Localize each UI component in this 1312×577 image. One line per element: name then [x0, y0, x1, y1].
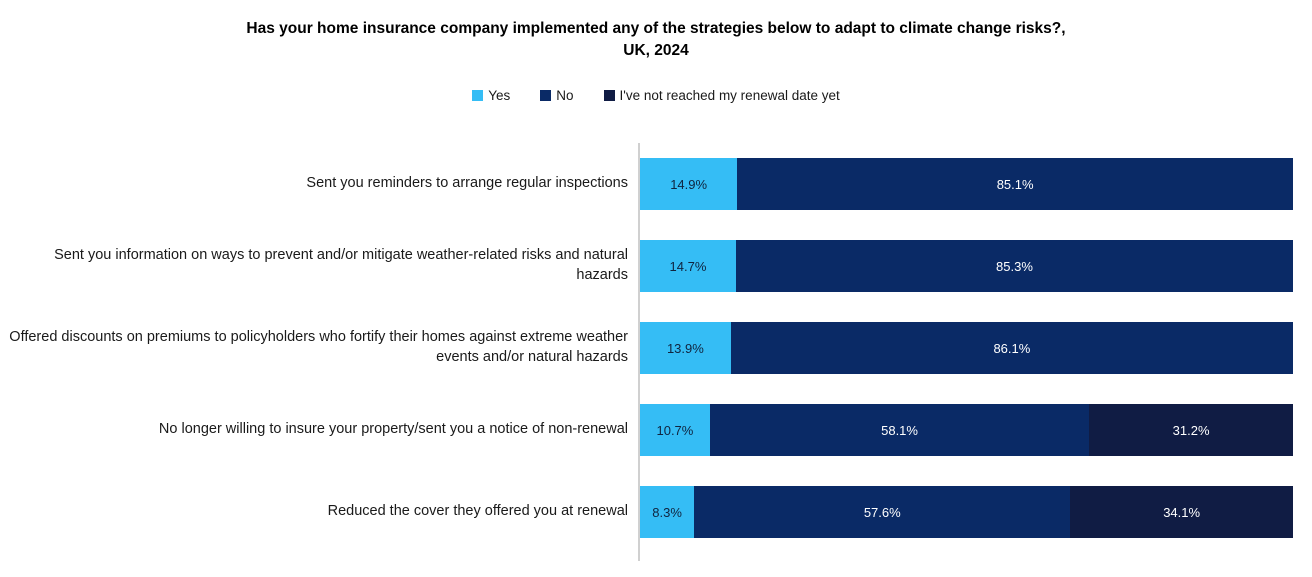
bar-segment-yes[interactable]: 14.9%: [640, 158, 737, 210]
bar-segment-yes[interactable]: 14.7%: [640, 240, 736, 292]
bar-segment-yes[interactable]: 10.7%: [640, 404, 710, 456]
legend-label-yes: Yes: [488, 88, 510, 103]
bar-row: Sent you reminders to arrange regular in…: [0, 143, 1312, 225]
legend-swatch-icon-no: [540, 90, 551, 101]
stacked-bar: 8.3% 57.6% 34.1%: [640, 486, 1293, 538]
legend-swatch-icon-yes: [472, 90, 483, 101]
category-label: Offered discounts on premiums to policyh…: [8, 307, 628, 389]
bar-segment-no[interactable]: 86.1%: [731, 322, 1293, 374]
bar-row: Offered discounts on premiums to policyh…: [0, 307, 1312, 389]
legend-item-no[interactable]: No: [540, 88, 573, 103]
bar-row: Reduced the cover they offered you at re…: [0, 471, 1312, 553]
chart-title-line-1: Has your home insurance company implemen…: [246, 20, 1065, 37]
category-label: Reduced the cover they offered you at re…: [8, 471, 628, 553]
bar-segment-no[interactable]: 58.1%: [710, 404, 1089, 456]
bar-segment-not-reached-renewal[interactable]: 31.2%: [1089, 404, 1293, 456]
category-label: No longer willing to insure your propert…: [8, 389, 628, 471]
category-label: Sent you reminders to arrange regular in…: [8, 143, 628, 225]
chart-container: Has your home insurance company implemen…: [0, 0, 1312, 577]
chart-legend: Yes No I've not reached my renewal date …: [0, 88, 1312, 103]
bar-segment-not-reached-renewal[interactable]: 34.1%: [1070, 486, 1293, 538]
stacked-bar: 14.9% 85.1%: [640, 158, 1293, 210]
bar-row: No longer willing to insure your propert…: [0, 389, 1312, 471]
stacked-bar: 13.9% 86.1%: [640, 322, 1293, 374]
bar-segment-yes[interactable]: 13.9%: [640, 322, 731, 374]
legend-item-yes[interactable]: Yes: [472, 88, 510, 103]
chart-title: Has your home insurance company implemen…: [156, 18, 1156, 63]
bar-row: Sent you information on ways to prevent …: [0, 225, 1312, 307]
bar-segment-no[interactable]: 85.1%: [737, 158, 1293, 210]
bar-segment-no[interactable]: 57.6%: [694, 486, 1070, 538]
plot-area: Sent you reminders to arrange regular in…: [0, 143, 1312, 561]
legend-item-not-reached-renewal[interactable]: I've not reached my renewal date yet: [604, 88, 840, 103]
category-label: Sent you information on ways to prevent …: [8, 225, 628, 307]
stacked-bar: 14.7% 85.3%: [640, 240, 1293, 292]
legend-label-not-reached-renewal: I've not reached my renewal date yet: [620, 88, 840, 103]
bar-segment-yes[interactable]: 8.3%: [640, 486, 694, 538]
legend-swatch-icon-not-reached-renewal: [604, 90, 615, 101]
bar-segment-no[interactable]: 85.3%: [736, 240, 1293, 292]
stacked-bar: 10.7% 58.1% 31.2%: [640, 404, 1293, 456]
chart-title-line-2: UK, 2024: [623, 42, 688, 59]
legend-label-no: No: [556, 88, 573, 103]
